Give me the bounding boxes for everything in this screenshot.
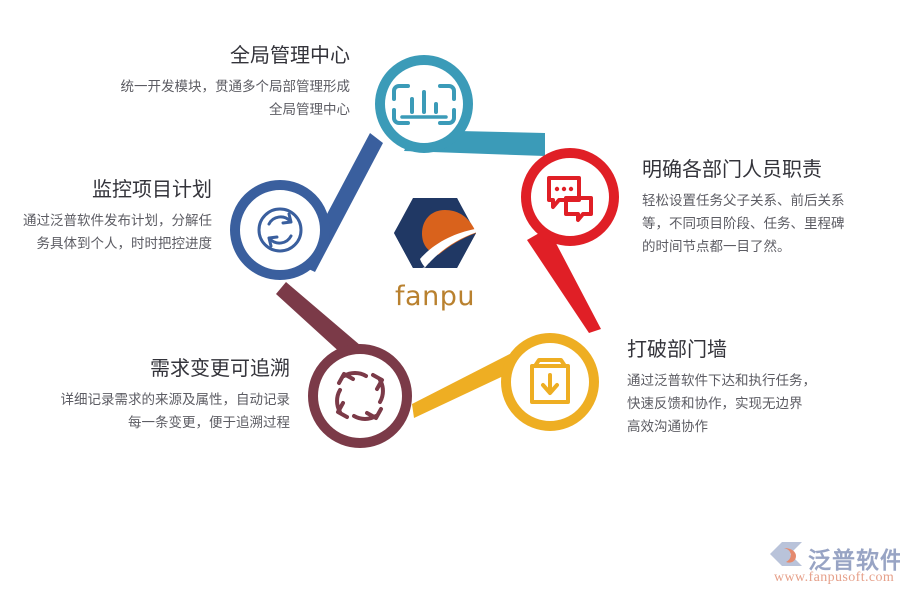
desc-line: 等，不同项目阶段、任务、里程碑	[642, 212, 892, 235]
node-trace[interactable]	[313, 349, 407, 443]
desc-line: 全局管理中心	[60, 98, 350, 121]
node-global[interactable]	[380, 60, 468, 148]
title-duty: 明确各部门人员职责	[642, 158, 892, 183]
text-block-wall: 打破部门墙 通过泛普软件下达和执行任务， 快速反馈和协作，实现无边界 高效沟通协…	[627, 338, 882, 439]
desc-line: 详细记录需求的来源及属性，自动记录	[20, 388, 290, 411]
desc-line: 轻松设置任务父子关系、前后关系	[642, 189, 892, 212]
desc-line: 务具体到个人，时时把控进度	[0, 232, 212, 255]
text-block-monitor: 监控项目计划 通过泛普软件发布计划，分解任 务具体到个人，时时把控进度	[0, 178, 212, 255]
node-wall[interactable]	[506, 338, 594, 426]
text-block-trace: 需求变更可追溯 详细记录需求的来源及属性，自动记录 每一条变更，便于追溯过程	[20, 357, 290, 434]
watermark-url: www.fanpusoft.com	[774, 570, 894, 586]
fanpusoft-logo-mark	[768, 540, 808, 568]
text-block-global: 全局管理中心 统一开发模块，贯通多个局部管理形成 全局管理中心	[60, 44, 350, 121]
ring-monitor	[235, 185, 325, 275]
title-global: 全局管理中心	[60, 44, 350, 69]
desc-line: 的时间节点都一目了然。	[642, 235, 892, 258]
desc-monitor: 通过泛普软件发布计划，分解任 务具体到个人，时时把控进度	[0, 209, 212, 255]
desc-line: 高效沟通协作	[627, 415, 882, 438]
title-monitor: 监控项目计划	[0, 178, 212, 203]
desc-line: 通过泛普软件下达和执行任务，	[627, 369, 882, 392]
desc-trace: 详细记录需求的来源及属性，自动记录 每一条变更，便于追溯过程	[20, 388, 290, 434]
ring-trace	[313, 349, 407, 443]
desc-line: 每一条变更，便于追溯过程	[20, 411, 290, 434]
text-block-duty: 明确各部门人员职责 轻松设置任务父子关系、前后关系 等，不同项目阶段、任务、里程…	[642, 158, 892, 259]
node-duty[interactable]	[526, 153, 614, 241]
watermark: 泛普软件 www.fanpusoft.com	[766, 540, 892, 592]
desc-line: 统一开发模块，贯通多个局部管理形成	[60, 75, 350, 98]
center-brand: fanpu	[383, 196, 487, 312]
fanpu-hexagon-logo	[383, 196, 487, 270]
title-trace: 需求变更可追溯	[20, 357, 290, 382]
desc-global: 统一开发模块，贯通多个局部管理形成 全局管理中心	[60, 75, 350, 121]
desc-line: 通过泛普软件发布计划，分解任	[0, 209, 212, 232]
desc-duty: 轻松设置任务父子关系、前后关系 等，不同项目阶段、任务、里程碑 的时间节点都一目…	[642, 189, 892, 259]
desc-wall: 通过泛普软件下达和执行任务， 快速反馈和协作，实现无边界 高效沟通协作	[627, 369, 882, 439]
title-wall: 打破部门墙	[627, 338, 882, 363]
infographic-canvas: fanpu 全局管理中心 统一开发模块，贯通多个局部管理形成 全局管理中心 监控…	[0, 0, 900, 600]
node-monitor[interactable]	[235, 185, 325, 275]
desc-line: 快速反馈和协作，实现无边界	[627, 392, 882, 415]
brand-wordmark: fanpu	[383, 281, 487, 312]
